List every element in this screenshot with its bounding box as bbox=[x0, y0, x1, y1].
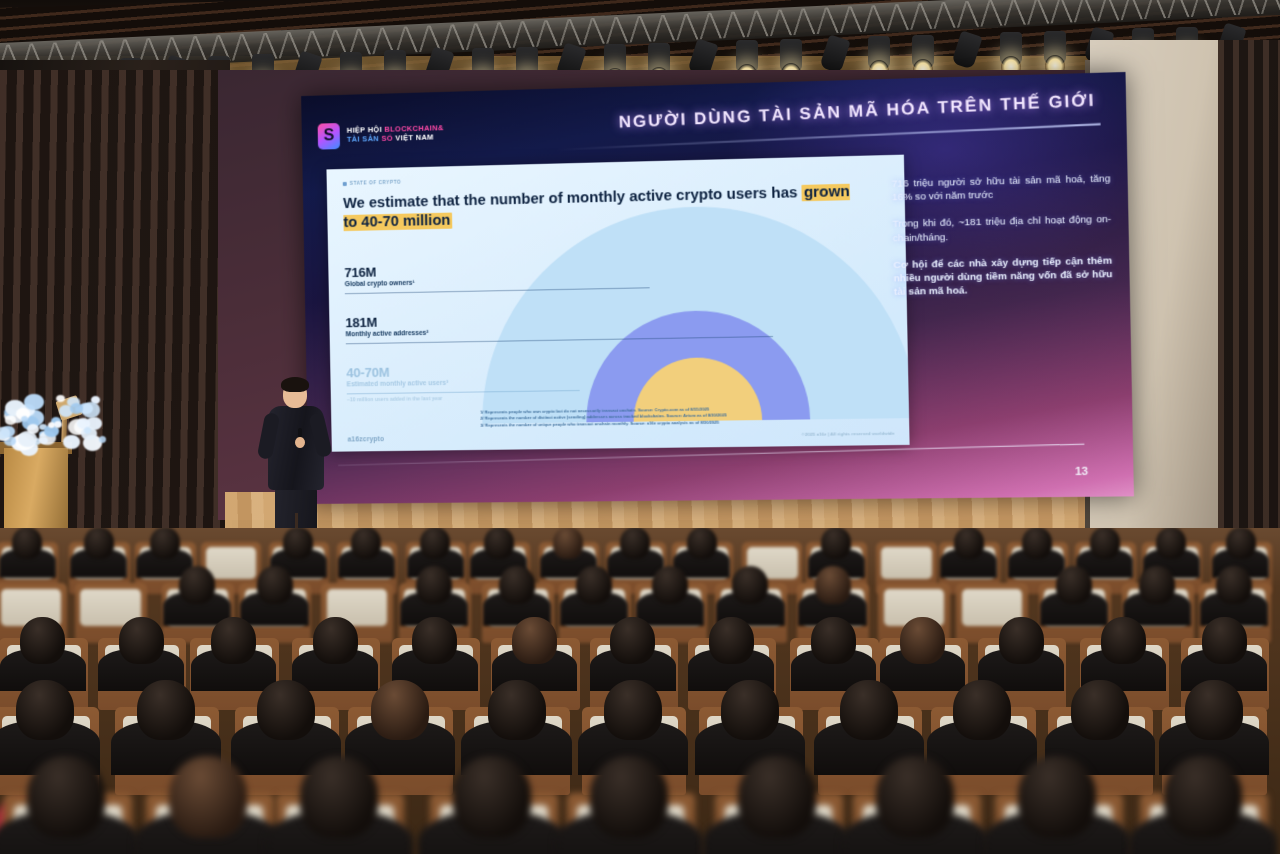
audience-member-head bbox=[1090, 528, 1120, 559]
stage-light bbox=[1000, 32, 1022, 66]
audience-member-head bbox=[371, 680, 429, 740]
audience-member-head bbox=[1056, 566, 1092, 604]
vietnamese-notes: 716 triệu người sở hữu tài sản mã hoá, t… bbox=[892, 172, 1113, 313]
note-1: 716 triệu người sở hữu tài sản mã hoá, t… bbox=[892, 172, 1111, 205]
audience-member-head bbox=[738, 756, 816, 838]
flower bbox=[56, 395, 65, 402]
slide-copyright: ©2025 a16z | All rights reserved worldwi… bbox=[802, 431, 895, 437]
audience-member-head bbox=[27, 756, 105, 838]
flower bbox=[39, 437, 48, 444]
audience-member-head bbox=[821, 528, 851, 559]
audience-member-head bbox=[84, 528, 114, 559]
audience-member-head bbox=[169, 756, 247, 838]
slide-kicker: STATE OF CRYPTO bbox=[343, 180, 402, 186]
headline-text: We estimate that the number of monthly a… bbox=[343, 185, 802, 212]
stat-row-estimated-monthly-active-users: 40-70M Estimated monthly active users³ ~… bbox=[346, 358, 787, 403]
note-3: Cơ hội để các nhà xây dựng tiếp cận thêm… bbox=[893, 254, 1112, 299]
audience-member-head bbox=[1164, 756, 1242, 838]
audience-member-head bbox=[999, 617, 1044, 664]
audience-member-head bbox=[257, 680, 315, 740]
audience-member-head bbox=[1202, 617, 1247, 664]
audience-member-head bbox=[119, 617, 164, 664]
audience-member-head bbox=[484, 528, 514, 559]
flower bbox=[5, 415, 17, 425]
audience-member-head bbox=[1185, 680, 1243, 740]
audience-member-head bbox=[553, 528, 583, 559]
audience-member-head bbox=[900, 617, 945, 664]
audience-member-head bbox=[954, 528, 984, 559]
slide-page-number: 13 bbox=[1075, 466, 1088, 479]
audience-member-head bbox=[351, 528, 381, 559]
audience-member-head bbox=[576, 566, 612, 604]
s-monogram-icon bbox=[318, 123, 340, 150]
audience-member-head bbox=[590, 756, 668, 838]
association-logo: HIỆP HỘI BLOCKCHAIN& TÀI SẢN SỐ VIỆT NAM bbox=[318, 120, 444, 150]
audience-member-head bbox=[652, 566, 688, 604]
audience-member-head bbox=[732, 566, 768, 604]
audience-member-head bbox=[499, 566, 535, 604]
stage-light bbox=[780, 39, 802, 73]
audience-member-head bbox=[1018, 756, 1096, 838]
stage-light bbox=[736, 40, 758, 74]
flower bbox=[84, 427, 91, 433]
stage-light bbox=[1044, 31, 1066, 65]
slide-kicker-label: STATE OF CRYPTO bbox=[350, 180, 402, 186]
audience-member-head bbox=[137, 680, 195, 740]
logo-line1-amp: & bbox=[438, 124, 444, 133]
audience-member-head bbox=[620, 528, 650, 559]
audience-member-head bbox=[1101, 617, 1146, 664]
presentation-slide: STATE OF CRYPTO We estimate that the num… bbox=[326, 155, 909, 452]
led-presentation-screen: HIỆP HỘI BLOCKCHAIN& TÀI SẢN SỐ VIỆT NAM… bbox=[301, 72, 1134, 504]
flower bbox=[24, 394, 44, 411]
audience-member-head bbox=[953, 680, 1011, 740]
audience-member-head bbox=[1226, 528, 1256, 559]
flower bbox=[54, 421, 62, 428]
right-stage-curtain bbox=[1218, 40, 1280, 600]
audience-member-head bbox=[150, 528, 180, 559]
audience-member-head bbox=[16, 680, 74, 740]
audience-seating bbox=[0, 528, 1280, 854]
audience-member-head bbox=[283, 528, 313, 559]
audience-member-head bbox=[604, 680, 662, 740]
audience-member-head bbox=[211, 617, 256, 664]
flower bbox=[99, 436, 106, 442]
audience-member-head bbox=[412, 617, 457, 664]
audience-member-head bbox=[12, 528, 42, 559]
slide-brand-logo: a16zcrypto bbox=[348, 436, 385, 443]
kicker-dot-icon bbox=[343, 181, 347, 185]
audience-member-head bbox=[300, 756, 378, 838]
audience-member-head bbox=[1216, 566, 1252, 604]
audience-member-head bbox=[512, 617, 557, 664]
audience-member-head bbox=[811, 617, 856, 664]
audience-member-head bbox=[815, 566, 851, 604]
audience-member-head bbox=[257, 566, 293, 604]
flower bbox=[82, 402, 101, 418]
audience-member-head bbox=[313, 617, 358, 664]
flower-arrangement bbox=[0, 392, 114, 456]
logo-line2-b: SỐ bbox=[381, 134, 395, 143]
stage-light bbox=[912, 35, 934, 69]
audience-member-head bbox=[687, 528, 717, 559]
audience-member-head bbox=[721, 680, 779, 740]
audience-member-head bbox=[1071, 680, 1129, 740]
logo-line2-a: TÀI SẢN bbox=[347, 134, 382, 144]
conference-stage-photo: HIỆP HỘI BLOCKCHAIN& TÀI SẢN SỐ VIỆT NAM… bbox=[0, 0, 1280, 854]
note-2: Trong khi đó, ~181 triệu địa chỉ hoạt độ… bbox=[892, 213, 1111, 245]
audience-member-head bbox=[1156, 528, 1186, 559]
audience-member-head bbox=[1139, 566, 1175, 604]
speaker-hair bbox=[281, 377, 309, 392]
association-logo-text: HIỆP HỘI BLOCKCHAIN& TÀI SẢN SỐ VIỆT NAM bbox=[347, 125, 444, 145]
audience-member-head bbox=[488, 680, 546, 740]
audience-member-head bbox=[20, 617, 65, 664]
audience-member-head bbox=[1022, 528, 1052, 559]
audience-member-head bbox=[610, 617, 655, 664]
flower bbox=[63, 435, 79, 449]
audience-member-head bbox=[420, 528, 450, 559]
audience-member-head bbox=[709, 617, 754, 664]
audience-member-head bbox=[876, 756, 954, 838]
audience-member-head bbox=[179, 566, 215, 604]
stage-light bbox=[868, 36, 890, 70]
logo-line2-c: VIỆT NAM bbox=[395, 132, 434, 142]
flower bbox=[27, 424, 39, 434]
audience-member-head bbox=[453, 756, 531, 838]
audience-member-head bbox=[416, 566, 452, 604]
speaker-hand bbox=[295, 437, 305, 448]
audience-member-head bbox=[840, 680, 898, 740]
